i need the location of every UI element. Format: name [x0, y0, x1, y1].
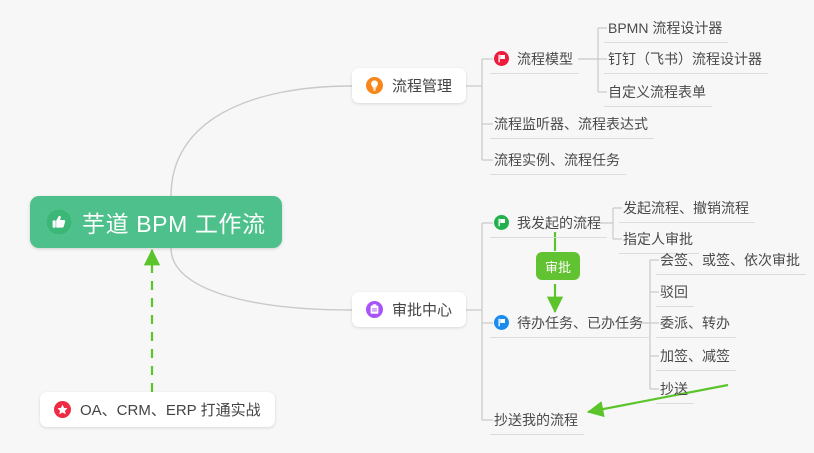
node-label: 委派、转办 — [660, 313, 730, 333]
node-add-remove-sign[interactable]: 加签、减签 — [656, 341, 736, 371]
node-start-cancel-process[interactable]: 发起流程、撤销流程 — [619, 193, 755, 223]
lightbulb-icon — [366, 77, 383, 94]
bottom-note-label: OA、CRM、ERP 打通实战 — [80, 399, 261, 420]
annotation-chip-approval: 审批 — [536, 252, 580, 280]
thumbs-up-icon — [46, 209, 72, 235]
node-label: 流程监听器、流程表达式 — [494, 114, 648, 134]
node-dingtalk-feishu-designer[interactable]: 钉钉（飞书）流程设计器 — [604, 44, 768, 74]
branch-node-approval-center[interactable]: 审批中心 — [352, 292, 466, 327]
bottom-note-card[interactable]: OA、CRM、ERP 打通实战 — [40, 392, 275, 427]
clipboard-icon — [366, 301, 383, 318]
node-label: 加签、减签 — [660, 346, 730, 366]
node-cc[interactable]: 抄送 — [656, 374, 694, 404]
node-label: 我发起的流程 — [517, 213, 601, 233]
flag-icon — [494, 215, 509, 230]
node-countersign-or-sequential[interactable]: 会签、或签、依次审批 — [656, 245, 806, 275]
node-label: 流程实例、流程任务 — [494, 150, 620, 170]
node-custom-process-form[interactable]: 自定义流程表单 — [604, 77, 712, 107]
node-process-listener-expression[interactable]: 流程监听器、流程表达式 — [490, 109, 654, 139]
branch-label: 审批中心 — [392, 299, 452, 320]
node-label: BPMN 流程设计器 — [608, 18, 722, 38]
node-bpmn-designer[interactable]: BPMN 流程设计器 — [604, 13, 728, 43]
mindmap-canvas: 芋道 BPM 工作流 流程管理 流程模型 BPMN 流程设计器 钉钉（飞书）流程 — [0, 0, 814, 453]
node-label: 待办任务、已办任务 — [517, 313, 643, 333]
wire-root-to-approval-center — [171, 248, 352, 310]
node-label: 自定义流程表单 — [608, 82, 706, 102]
branch-node-process-management[interactable]: 流程管理 — [352, 68, 466, 103]
node-label: 钉钉（飞书）流程设计器 — [608, 49, 762, 69]
node-reject[interactable]: 驳回 — [656, 277, 694, 307]
flag-icon — [494, 315, 509, 330]
node-label: 会签、或签、依次审批 — [660, 250, 800, 270]
node-label: 流程模型 — [517, 49, 573, 69]
root-label: 芋道 BPM 工作流 — [82, 205, 266, 239]
node-process-instance-task[interactable]: 流程实例、流程任务 — [490, 145, 626, 175]
node-label: 驳回 — [660, 282, 688, 302]
node-todo-done-task[interactable]: 待办任务、已办任务 — [490, 308, 649, 338]
chip-label: 审批 — [545, 257, 571, 276]
branch-label: 流程管理 — [392, 75, 452, 96]
node-my-initiated-process[interactable]: 我发起的流程 — [490, 208, 607, 238]
node-cc-to-me-process[interactable]: 抄送我的流程 — [490, 405, 584, 435]
root-node[interactable]: 芋道 BPM 工作流 — [30, 196, 282, 248]
node-process-model[interactable]: 流程模型 — [490, 44, 579, 74]
star-icon — [54, 401, 71, 418]
wire-root-to-process-management — [171, 86, 352, 196]
flag-icon — [494, 51, 509, 66]
node-label: 抄送我的流程 — [494, 410, 578, 430]
node-label: 抄送 — [660, 379, 688, 399]
node-label: 发起流程、撤销流程 — [623, 198, 749, 218]
node-delegate-transfer[interactable]: 委派、转办 — [656, 308, 736, 338]
